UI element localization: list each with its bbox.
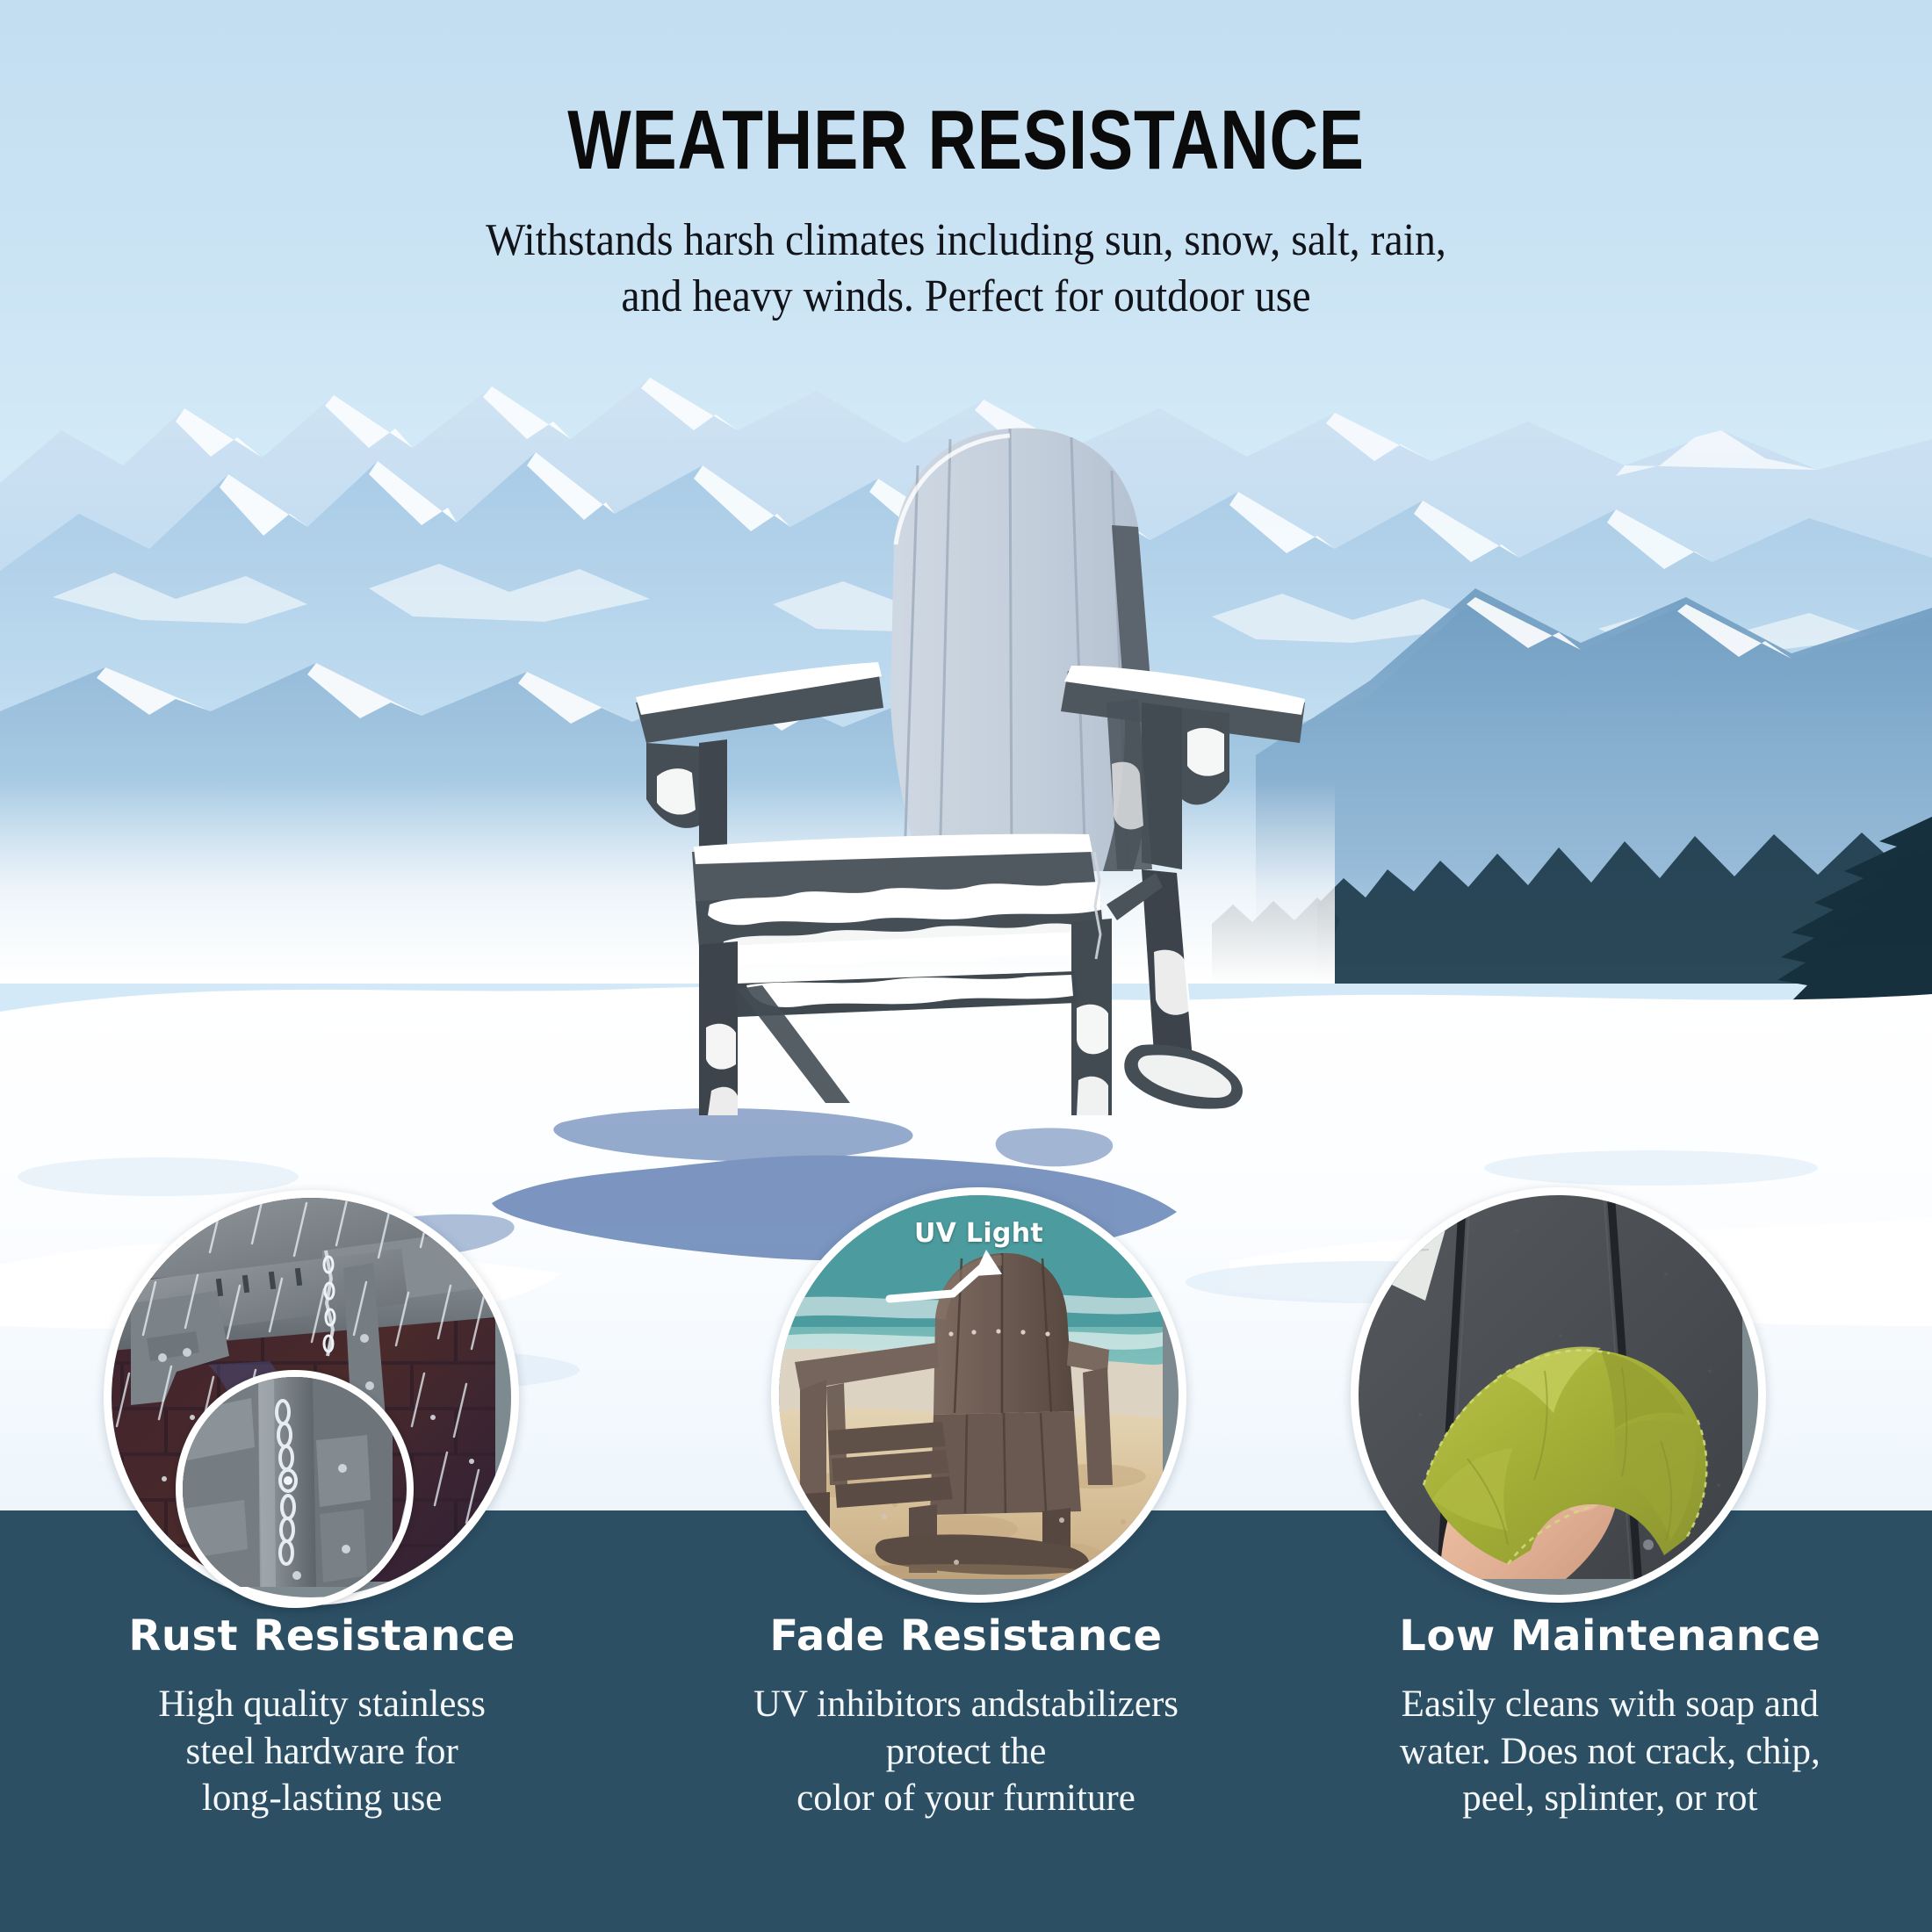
feature-body-rust-resistance: High quality stainless steel hardware fo… bbox=[19, 1681, 624, 1821]
fade-resistance-photo: UV Light bbox=[779, 1195, 1179, 1595]
feature-body-line: UV inhibitors andstabilizers bbox=[753, 1683, 1179, 1725]
feature-body-line: High quality stainless bbox=[158, 1683, 486, 1725]
feature-body-line: long-lasting use bbox=[202, 1777, 443, 1819]
header-block: WEATHER RESISTANCE Withstands harsh clim… bbox=[0, 0, 1932, 326]
feature-low-maintenance: Low Maintenance Easily cleans with soap … bbox=[1288, 1614, 1932, 1821]
feature-title-low-maintenance: Low Maintenance bbox=[1308, 1614, 1913, 1658]
feature-fade-resistance: Fade Resistance UV inhibitors andstabili… bbox=[644, 1614, 1287, 1821]
feature-image-fade-resistance[interactable]: UV Light bbox=[771, 1187, 1186, 1603]
feature-body-line: protect the bbox=[886, 1731, 1047, 1772]
feature-body-line: steel hardware for bbox=[185, 1731, 458, 1772]
feature-body-line: peel, splinter, or rot bbox=[1462, 1777, 1757, 1819]
feature-body-fade-resistance: UV inhibitors andstabilizers protect the… bbox=[663, 1681, 1268, 1821]
snow-covered-adirondack-chair bbox=[615, 413, 1335, 1142]
feature-title-fade-resistance: Fade Resistance bbox=[663, 1614, 1268, 1658]
feature-body-line: color of your furniture bbox=[797, 1777, 1135, 1819]
rust-resistance-inset-detail[interactable] bbox=[176, 1370, 414, 1608]
feature-text-row: Rust Resistance High quality stainless s… bbox=[0, 1614, 1932, 1821]
feature-rust-resistance: Rust Resistance High quality stainless s… bbox=[0, 1614, 644, 1821]
feature-title-rust-resistance: Rust Resistance bbox=[19, 1614, 624, 1658]
feature-body-line: water. Does not crack, chip, bbox=[1400, 1731, 1820, 1772]
subtitle-line-2: and heavy winds. Perfect for outdoor use bbox=[77, 269, 1855, 325]
page-title: WEATHER RESISTANCE bbox=[193, 0, 1739, 183]
poster-canvas: WEATHER RESISTANCE Withstands harsh clim… bbox=[0, 0, 1932, 1932]
subtitle-line-1: Withstands harsh climates including sun,… bbox=[77, 213, 1855, 269]
page-subtitle: Withstands harsh climates including sun,… bbox=[77, 183, 1855, 326]
feature-body-low-maintenance: Easily cleans with soap and water. Does … bbox=[1308, 1681, 1913, 1821]
low-maintenance-photo bbox=[1359, 1195, 1758, 1595]
feature-body-line: Easily cleans with soap and bbox=[1402, 1683, 1819, 1725]
feature-image-low-maintenance[interactable] bbox=[1351, 1187, 1766, 1603]
